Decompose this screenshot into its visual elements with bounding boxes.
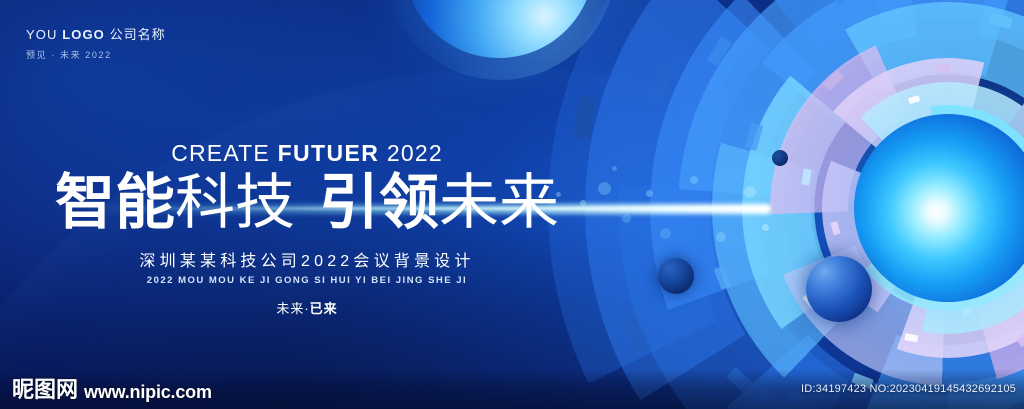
headline-block: CREATE FUTUER 2022 智能科技引领未来 深圳某某科技公司2022…	[0, 142, 614, 317]
logo-title: YOU LOGO 公司名称	[26, 24, 166, 43]
sphere-tiny-top	[772, 150, 788, 166]
logo-word-logo: LOGO	[62, 27, 105, 42]
headline-eyebrow: CREATE FUTUER 2022	[0, 142, 614, 165]
logo-word-you: YOU	[26, 27, 57, 42]
tagline-bold-part: 已来	[310, 301, 338, 316]
asset-id-code: ID:34197423 NO:20230419145432692105	[801, 383, 1016, 395]
headline-subtitle-pinyin: 2022 MOU MOU KE JI GONG SI HUI YI BEI JI…	[0, 275, 614, 286]
poster-canvas: YOU LOGO 公司名称 预见 · 未来 2022 CREATE FUTUER…	[0, 0, 1024, 409]
title-part-yinling: 引领	[319, 169, 439, 236]
hud-data-block	[936, 64, 950, 71]
title-part-zhineng: 智能	[55, 169, 175, 236]
logo-company-name: 公司名称	[110, 27, 166, 42]
sphere-large-right	[806, 256, 872, 322]
sphere-small-left	[658, 258, 694, 294]
headline-tagline: 未来·已来	[0, 298, 614, 317]
eyebrow-futuer: FUTUER	[278, 140, 380, 166]
tagline-thin-part: 未来·	[276, 301, 309, 316]
title-part-keji: 科技	[175, 169, 295, 236]
page-title: 智能科技引领未来	[0, 171, 614, 235]
eyebrow-year: 2022	[387, 140, 443, 166]
watermark-brand-cn: 昵图网	[12, 379, 78, 401]
title-part-weilai: 未来	[439, 169, 559, 236]
watermark-url: www.nipic.com	[84, 383, 212, 401]
logo-lockup[interactable]: YOU LOGO 公司名称 预见 · 未来 2022	[26, 24, 166, 61]
eyebrow-create: CREATE	[171, 140, 270, 166]
logo-subtitle: 预见 · 未来 2022	[26, 48, 166, 61]
headline-subtitle-cn: 深圳某某科技公司2022会议背景设计	[0, 247, 614, 271]
watermark[interactable]: 昵图网 www.nipic.com	[12, 379, 212, 401]
